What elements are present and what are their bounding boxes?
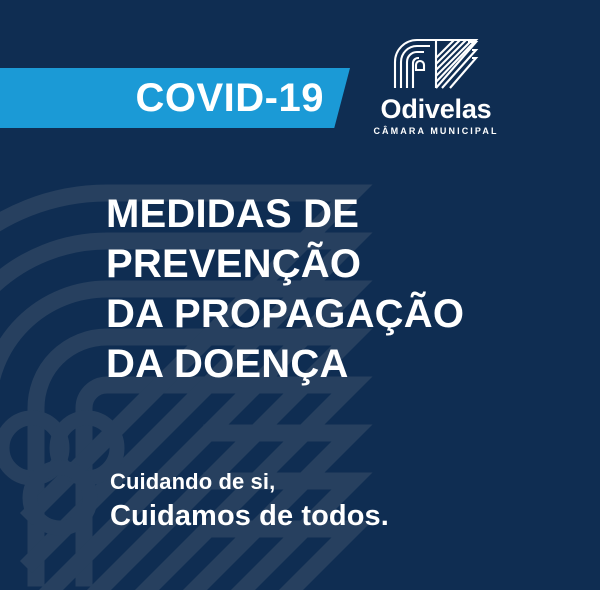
- headline-line-2: PREVENÇÃO: [106, 239, 576, 289]
- heart-logo-icon: [392, 36, 480, 92]
- headline-line-1: MEDIDAS DE: [106, 189, 576, 239]
- watermark-trefoil-icon: [2, 418, 117, 528]
- headline: MEDIDAS DE PREVENÇÃO DA PROPAGAÇÃO DA DO…: [106, 189, 576, 389]
- covid-banner: COVID-19: [0, 68, 350, 128]
- headline-line-3: DA PROPAGAÇÃO: [106, 289, 576, 339]
- tagline: Cuidando de si, Cuidamos de todos.: [110, 467, 389, 535]
- logo-subtitle: CÂMARA MUNICIPAL: [366, 127, 506, 136]
- logo-wordmark: Odivelas: [366, 95, 506, 123]
- tagline-line-1: Cuidando de si,: [110, 467, 389, 497]
- headline-line-4: DA DOENÇA: [106, 339, 576, 389]
- covid-prevention-poster: COVID-19 Odivelas: [0, 0, 600, 590]
- covid-banner-label: COVID-19: [0, 68, 350, 128]
- tagline-line-2: Cuidamos de todos.: [110, 497, 389, 535]
- odivelas-logo: Odivelas CÂMARA MUNICIPAL: [366, 36, 506, 136]
